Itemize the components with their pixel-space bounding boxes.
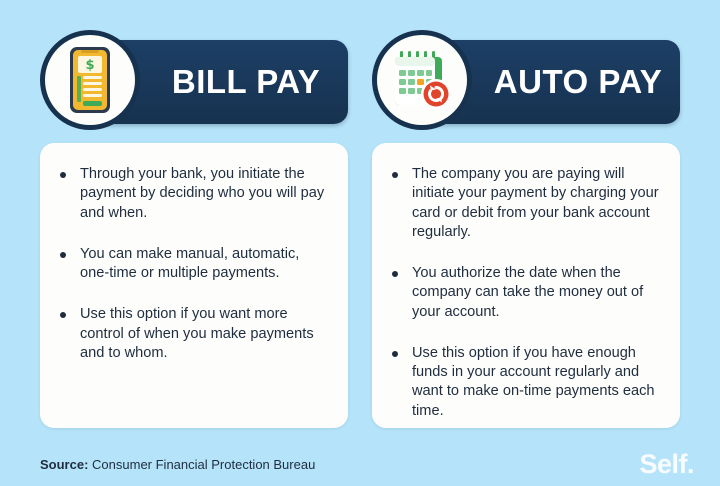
list-item: The company you are paying will initiate… [388,165,662,242]
column-bill-pay: BILL PAY $ Through yo [40,30,348,126]
list-item: You authorize the date when the company … [388,264,662,322]
source-attribution: Source: Consumer Financial Protection Bu… [40,457,315,472]
infographic-root: BILL PAY $ Through yo [0,0,720,486]
list-item: Through your bank, you initiate the paym… [56,165,330,223]
self-logo: Self. [639,451,694,478]
column-auto-pay: AUTO PAY [372,30,680,126]
card-bill-pay: Through your bank, you initiate the paym… [40,143,348,428]
list-item: You can make manual, automatic, one-time… [56,245,330,284]
source-value: Consumer Financial Protection Bureau [92,457,315,472]
list-item: Use this option if you want more control… [56,305,330,363]
header-auto-pay: AUTO PAY [372,30,680,126]
source-label: Source: [40,457,88,472]
header-title-auto-pay: AUTO PAY [484,40,672,124]
header-title-bill-pay: BILL PAY [152,40,340,124]
calendar-refresh-icon [372,30,472,130]
list-item: Use this option if you have enough funds… [388,344,662,421]
phone-bill-icon: $ [40,30,140,130]
bullet-list-bill-pay: Through your bank, you initiate the paym… [56,165,330,363]
bullet-list-auto-pay: The company you are paying will initiate… [388,165,662,421]
card-auto-pay: The company you are paying will initiate… [372,143,680,428]
header-bill-pay: BILL PAY $ [40,30,348,126]
svg-text:$: $ [85,58,94,73]
footer: Source: Consumer Financial Protection Bu… [40,452,694,476]
